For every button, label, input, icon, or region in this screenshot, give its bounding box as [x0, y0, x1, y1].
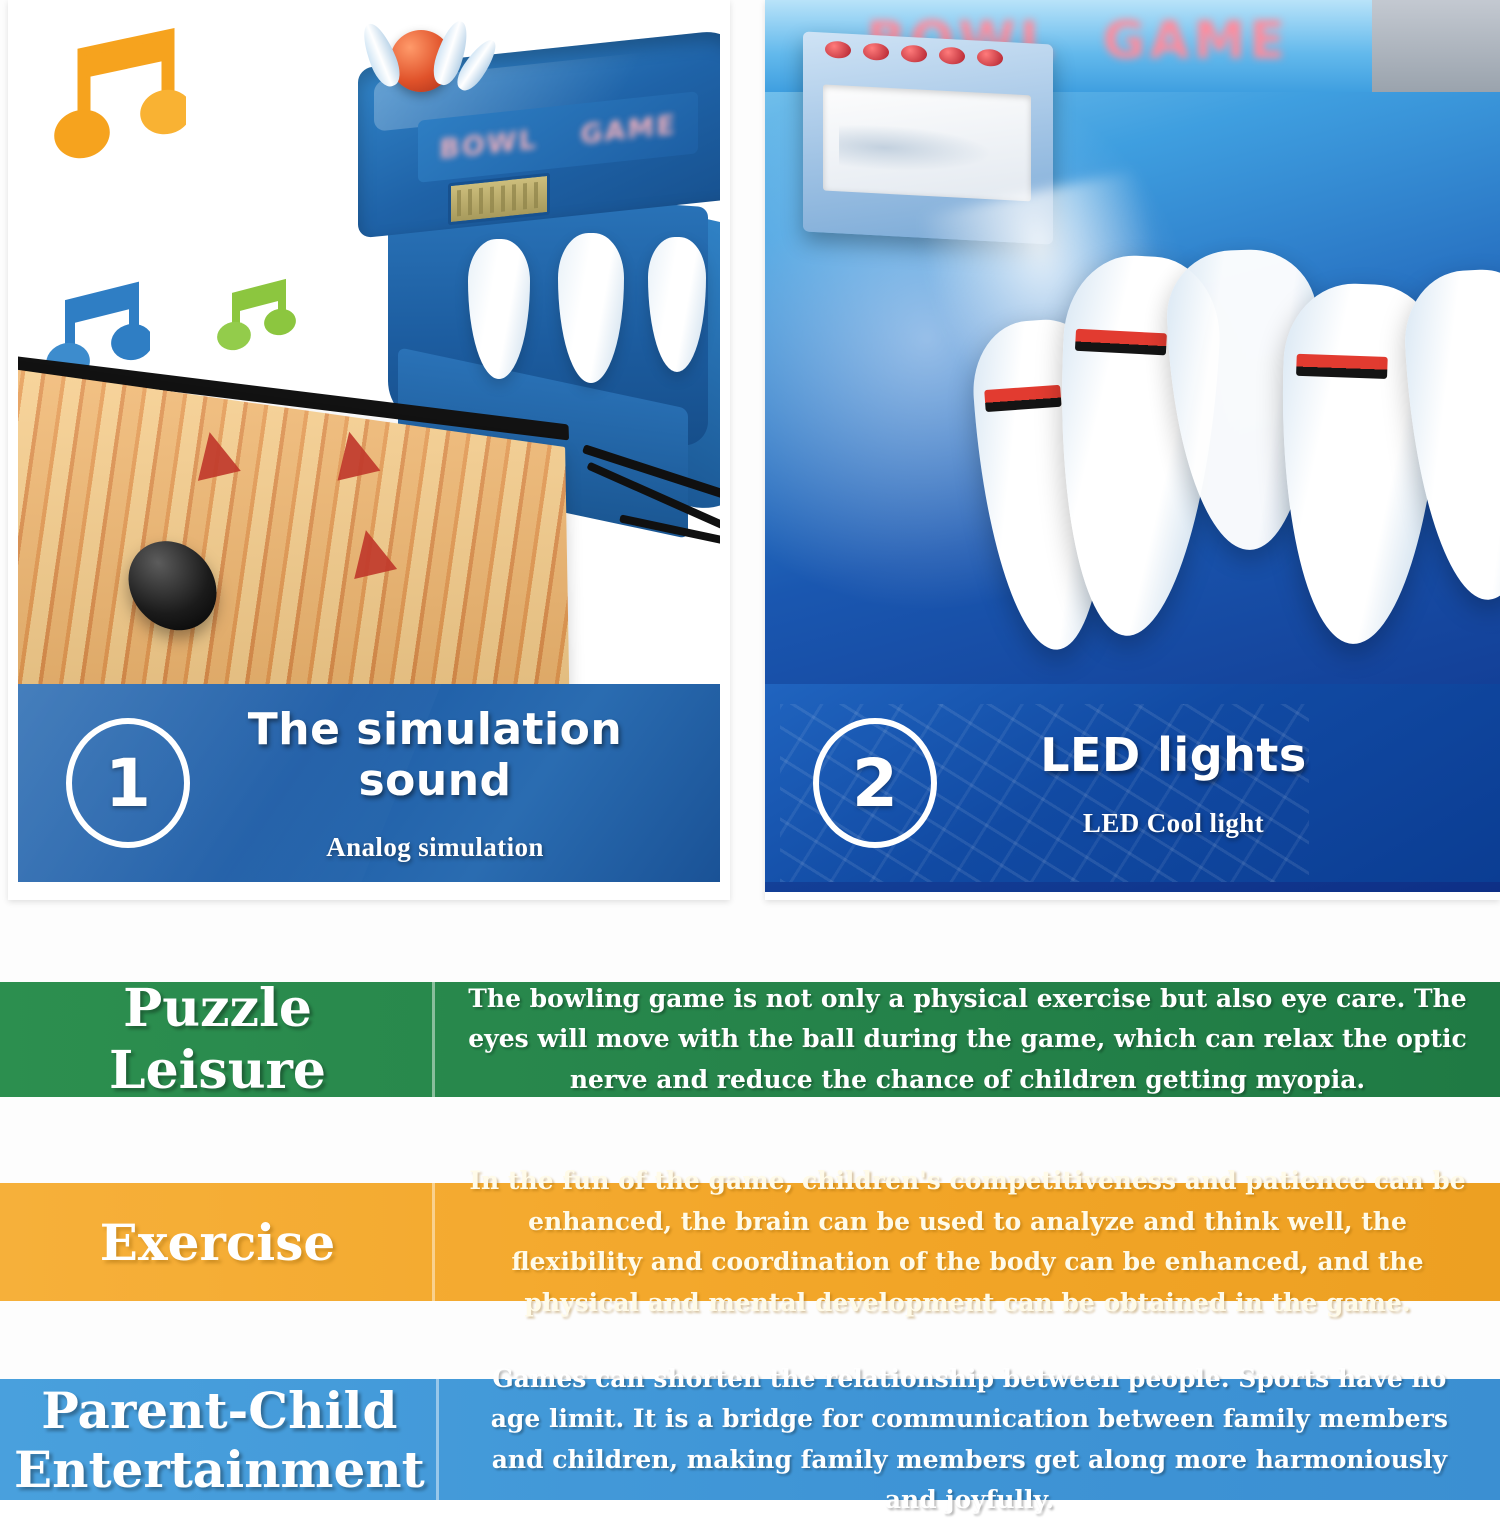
panel-1-image: BOWL GAME: [18, 8, 720, 892]
panel-2-title: LED lights: [937, 728, 1410, 782]
band-body-text: Games can shorten the relationship betwe…: [465, 1359, 1474, 1521]
green-music-note: [214, 278, 296, 356]
benefit-band-puzzle-leisure: Puzzle Leisure The bowling game is not o…: [0, 982, 1500, 1097]
orange-music-note: [46, 26, 186, 161]
band-label-puzzle-leisure: Puzzle Leisure: [0, 982, 435, 1097]
band-body-text: The bowling game is not only a physical …: [461, 979, 1474, 1101]
benefit-band-exercise: Exercise In the fun of the game, childre…: [0, 1183, 1500, 1301]
step-badge-1: 1: [66, 718, 190, 848]
panel-2-subtitle: LED Cool light: [937, 808, 1410, 839]
band-label-exercise: Exercise: [0, 1183, 435, 1301]
marquee-word-2: GAME: [580, 109, 676, 150]
band-body-text: In the fun of the game, children's compe…: [461, 1161, 1474, 1323]
simulation-sound-scene: BOWL GAME: [18, 8, 720, 892]
feature-panels: BOWL GAME: [0, 0, 1500, 905]
panel-1-title: The simulation sound: [190, 704, 680, 806]
band-label-text: Puzzle Leisure: [14, 978, 421, 1101]
console-button-2[interactable]: [863, 43, 889, 61]
feature-panel-1: BOWL GAME: [8, 0, 730, 900]
led-pin-5: [1401, 267, 1500, 604]
panel-2-caption-texts: LED lights LED Cool light: [937, 728, 1500, 839]
band-body-puzzle-leisure: The bowling game is not only a physical …: [435, 982, 1500, 1097]
step-badge-2: 2: [813, 718, 937, 848]
marquee2-word-2: GAME: [1103, 11, 1289, 71]
console-button-3[interactable]: [901, 45, 927, 63]
feature-panel-2: BOWL GAME: [765, 0, 1500, 900]
benefit-band-parent-child: Parent-Child Entertainment Games can sho…: [0, 1379, 1500, 1500]
console-button-row: [825, 41, 1003, 67]
pin-stripe-1: [984, 385, 1062, 412]
panel-1-caption: 1 The simulation sound Analog simulation: [18, 684, 720, 882]
console-button-5[interactable]: [977, 49, 1003, 67]
product-infographic: BOWL GAME: [0, 0, 1500, 1500]
marquee-side-panel: [1372, 0, 1500, 92]
band-body-exercise: In the fun of the game, children's compe…: [435, 1183, 1500, 1301]
hanging-pin-1: [468, 239, 530, 379]
console-display-screen: [823, 84, 1031, 201]
hanging-pins-group: [458, 233, 720, 393]
hanging-pin-2: [558, 233, 624, 383]
led-lights-scene: BOWL GAME: [765, 0, 1500, 892]
band-label-parent-child: Parent-Child Entertainment: [0, 1379, 439, 1500]
console-button-1[interactable]: [825, 41, 851, 59]
marquee-word-1: BOWL: [439, 124, 538, 165]
band-body-parent-child: Games can shorten the relationship betwe…: [439, 1379, 1500, 1500]
panel-1-caption-texts: The simulation sound Analog simulation: [190, 704, 720, 863]
panel-2-caption: 2 LED lights LED Cool light: [765, 684, 1500, 882]
panel-2-image: BOWL GAME: [765, 0, 1500, 892]
band-label-text: Exercise: [100, 1213, 335, 1272]
hanging-pin-3: [648, 237, 706, 372]
pin-stripe-2: [1075, 329, 1166, 356]
pin-stripe-4: [1296, 354, 1388, 379]
panel-1-subtitle: Analog simulation: [190, 832, 680, 863]
band-label-text: Parent-Child Entertainment: [14, 1381, 425, 1499]
console-button-4[interactable]: [939, 47, 965, 65]
